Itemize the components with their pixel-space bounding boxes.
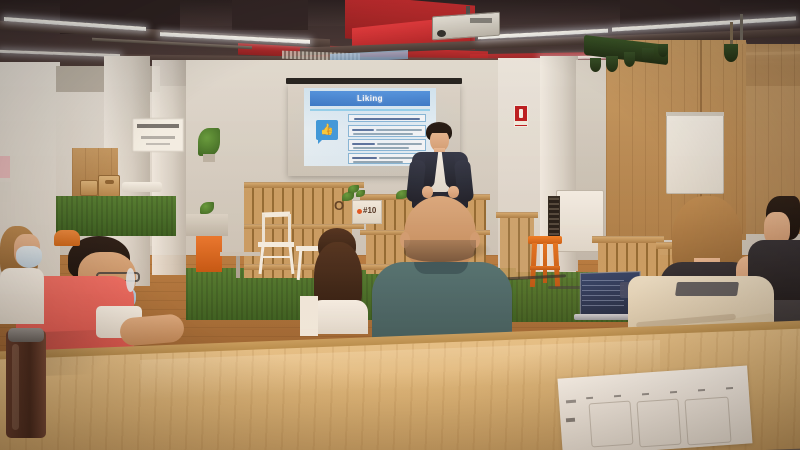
folding-chair-cross bbox=[262, 256, 292, 258]
wifi-sign-text bbox=[137, 124, 179, 128]
white-board-panel bbox=[666, 112, 724, 194]
attendee-left-mask bbox=[16, 246, 42, 268]
attendee-bald-hair-fringe bbox=[404, 240, 476, 262]
attendee-coral-mask-strap bbox=[126, 268, 135, 292]
worksheet-cell-1 bbox=[589, 401, 634, 448]
attendee-long-hair-top bbox=[310, 300, 368, 334]
attendee-long-hair-chair bbox=[300, 296, 318, 336]
ceiling-recess-mid bbox=[232, 0, 308, 30]
hanging-plant-6 bbox=[724, 44, 738, 62]
fire-sign-label bbox=[515, 121, 527, 125]
hanging-plant-1 bbox=[590, 58, 601, 72]
plant-left-pot bbox=[203, 154, 215, 162]
hanging-plant-2 bbox=[606, 56, 618, 72]
tote-bag-text bbox=[675, 282, 739, 296]
hanging-plant-3 bbox=[624, 52, 635, 67]
projector-lens bbox=[437, 30, 446, 37]
side-table bbox=[220, 252, 260, 256]
orange-stool-rung bbox=[530, 266, 560, 270]
white-board-edge bbox=[666, 112, 724, 116]
side-table-leg bbox=[236, 256, 240, 278]
left-wall-note-pink bbox=[0, 156, 10, 178]
attendee-bald-collar bbox=[414, 262, 468, 274]
pallet-sign-label: #10 bbox=[363, 206, 376, 215]
pallet-right-top bbox=[592, 236, 664, 243]
worksheet-cell-2 bbox=[636, 399, 681, 448]
attendee-left-orange-cap bbox=[54, 230, 80, 246]
crate-small bbox=[80, 180, 98, 196]
hanging-plant-5 bbox=[658, 44, 668, 57]
pallet-sign-dot bbox=[357, 209, 362, 214]
pallet-rail-top bbox=[244, 182, 364, 188]
pallet-far-left-top bbox=[496, 212, 538, 218]
crate-medium bbox=[98, 175, 120, 197]
wifi-sign-subtext bbox=[141, 136, 175, 139]
crate-handle bbox=[105, 180, 114, 184]
worksheet-cell-3 bbox=[684, 397, 731, 446]
presenter-hair-front bbox=[428, 124, 451, 133]
hanging-plant-4 bbox=[642, 48, 654, 62]
left-wall-note-grey bbox=[0, 182, 11, 202]
orange-box bbox=[196, 236, 222, 272]
presenter-hand-right bbox=[448, 186, 459, 198]
water-bottle-highlight bbox=[12, 344, 19, 430]
wifi-sign-subtext2 bbox=[146, 143, 170, 145]
ceiling-recess-right bbox=[620, 0, 720, 24]
photo-scene: Liking 👍 bbox=[0, 0, 800, 450]
worksheet-label-2 bbox=[566, 418, 575, 423]
left-column-2 bbox=[152, 60, 186, 275]
ceiling-hanger bbox=[740, 14, 743, 42]
attendee-left-top bbox=[0, 268, 44, 324]
folding-chair-back bbox=[262, 212, 290, 218]
projector-detail bbox=[470, 18, 492, 23]
pallet-far-left bbox=[500, 215, 534, 279]
fire-sign-glyph bbox=[519, 109, 523, 118]
white-roll bbox=[122, 182, 162, 192]
laptop-ui-rows bbox=[582, 280, 624, 310]
water-bottle-cap bbox=[8, 328, 44, 342]
plant-left-wall bbox=[198, 128, 220, 156]
teal-counter bbox=[186, 214, 228, 236]
